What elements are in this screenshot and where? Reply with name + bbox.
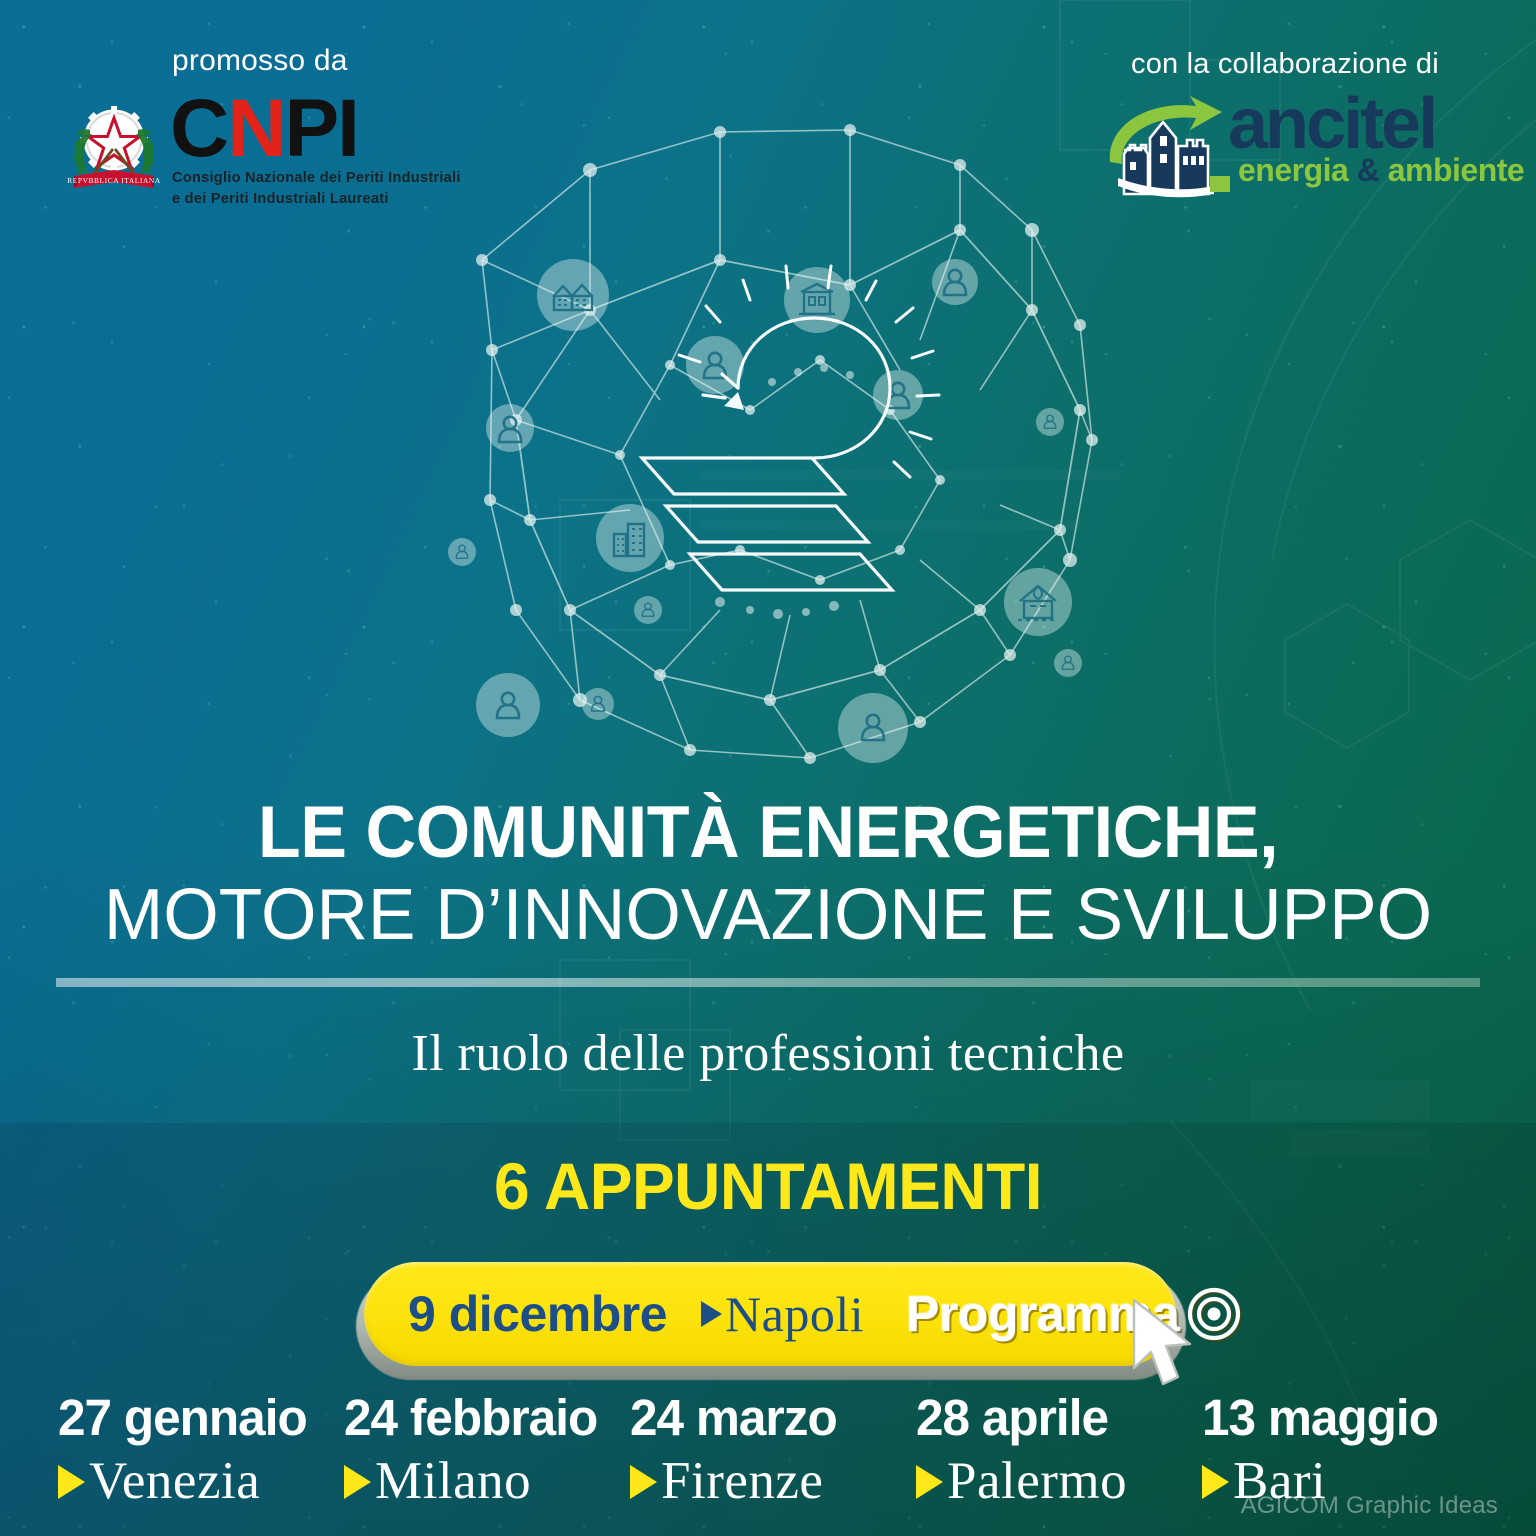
credit-label: AGICOM Graphic Ideas: [1241, 1492, 1498, 1520]
programma-button[interactable]: 9 dicembre Napoli Programma: [364, 1262, 1176, 1366]
ancitel-tagline-ampersand: &: [1357, 152, 1380, 188]
cnpi-subtitle-line-2: e dei Periti Industriali Laureati: [172, 189, 461, 210]
date-city-group: Firenze: [630, 1455, 916, 1508]
date-day: 24 marzo: [630, 1392, 907, 1443]
ancitel-tagline-energia: energia: [1238, 152, 1348, 188]
title-line-1: LE COMUNITÀ ENERGETICHE,: [31, 796, 1506, 869]
ancitel-tagline-ambiente: ambiente: [1388, 152, 1524, 188]
cta-city-label: Napoli: [725, 1285, 864, 1343]
cnpi-letters-pi: PI: [284, 83, 357, 174]
date-city: Palermo: [947, 1455, 1127, 1508]
date-day: 28 aprile: [916, 1392, 1193, 1443]
date-item[interactable]: 13 maggio Bari: [1202, 1392, 1488, 1508]
mouse-cursor-icon: [1128, 1296, 1202, 1392]
date-day: 24 febbraio: [344, 1392, 621, 1443]
date-item[interactable]: 24 marzo Firenze: [630, 1392, 916, 1508]
triangle-bullet-icon: [58, 1465, 85, 1499]
date-city: Milano: [375, 1455, 531, 1508]
ancitel-tagline: energia & ambiente: [1238, 154, 1524, 186]
title-divider: [56, 978, 1480, 987]
next-event-cta[interactable]: 9 dicembre Napoli Programma: [352, 1262, 1192, 1384]
cnpi-subtitle: Consiglio Nazionale dei Periti Industria…: [172, 168, 461, 209]
cnpi-logo[interactable]: REPVBBLICA ITALIANA CNPI Consiglio Nazio…: [62, 92, 482, 212]
date-item[interactable]: 27 gennaio Venezia: [58, 1392, 344, 1508]
cta-date-label: 9 dicembre: [408, 1285, 667, 1343]
triangle-bullet-icon: [344, 1465, 371, 1499]
title-line-2: MOTORE D’INNOVAZIONE E SVILUPPO: [8, 877, 1529, 955]
cnpi-subtitle-line-1: Consiglio Nazionale dei Periti Industria…: [172, 168, 461, 189]
date-day: 13 maggio: [1202, 1392, 1479, 1443]
triangle-bullet-icon: [630, 1465, 657, 1499]
date-day: 27 gennaio: [58, 1392, 335, 1443]
date-city-group: Milano: [344, 1455, 630, 1508]
cnpi-letter-n: N: [227, 83, 284, 174]
collaboration-label: con la collaborazione di: [1131, 48, 1439, 81]
page-title: LE COMUNITÀ ENERGETICHE, MOTORE D’INNOVA…: [0, 796, 1536, 955]
cnpi-wordmark: CNPI: [170, 88, 358, 170]
date-item[interactable]: 24 febbraio Milano: [344, 1392, 630, 1508]
triangle-bullet-icon: [1202, 1465, 1229, 1499]
triangle-bullet-icon: [701, 1301, 722, 1327]
triangle-bullet-icon: [916, 1465, 943, 1499]
date-city-group: Venezia: [58, 1455, 344, 1508]
date-city: Firenze: [661, 1455, 823, 1508]
date-city: Venezia: [89, 1455, 260, 1508]
network-graphic: [420, 110, 1120, 780]
appointments-count-label: 6 APPUNTAMENTI: [23, 1148, 1513, 1224]
date-city-group: Palermo: [916, 1455, 1202, 1508]
dates-row: 27 gennaio Venezia 24 febbraio Milano 24…: [58, 1392, 1488, 1508]
cnpi-letter-c: C: [170, 83, 227, 174]
ancitel-wordmark: ancitel: [1228, 88, 1435, 160]
ancitel-logo[interactable]: ancitel energia & ambiente: [1108, 92, 1448, 202]
page-subtitle: Il ruolo delle professioni tecniche: [0, 1024, 1536, 1083]
svg-text:REPVBBLICA ITALIANA: REPVBBLICA ITALIANA: [67, 176, 161, 185]
poster-canvas: promosso da con la collaborazione di: [0, 0, 1536, 1536]
date-item[interactable]: 28 aprile Palermo: [916, 1392, 1202, 1508]
cta-city-group: Napoli: [701, 1285, 864, 1343]
promoted-by-label: promosso da: [172, 44, 348, 78]
